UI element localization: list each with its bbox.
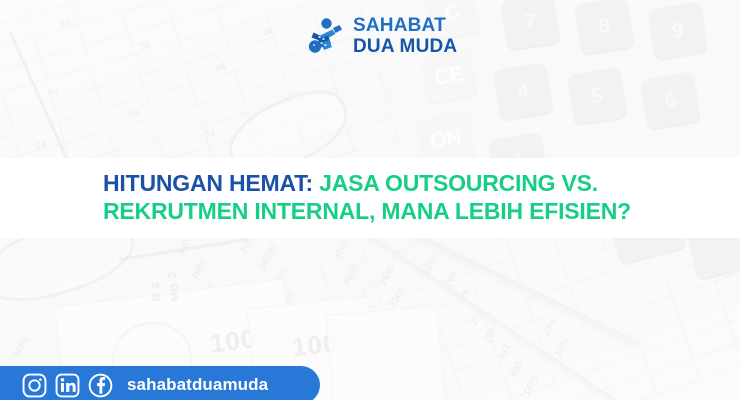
title-band: HITUNGAN HEMAT: JASA OUTSOURCING VS. REK… [0, 158, 740, 238]
sheet-number: 36300 [257, 243, 279, 272]
calculator: C CE ON MR 7 8 9 4 5 6 1 [413, 0, 740, 168]
banknote-serial: MB 3 [166, 270, 182, 302]
promo-banner: 65 56 88 92 64 51 24 36 C CE ON MR 7 8 9… [0, 0, 740, 400]
brand-wordmark: SAHABAT DUA MUDA [353, 16, 457, 56]
banknote [326, 305, 447, 400]
calculator-key-4: 4 [493, 62, 554, 122]
brand-logo: SAHABAT DUA MUDA [306, 12, 457, 60]
social-handle: sahabatduamuda [127, 375, 268, 395]
brand-name-line2: DUA MUDA [353, 37, 457, 56]
calculator-key-5: 5 [566, 67, 627, 127]
brand-name-line1: SAHABAT [353, 16, 457, 35]
instagram-icon[interactable] [22, 373, 47, 398]
calculator-key-7: 7 [500, 0, 561, 52]
facebook-icon[interactable] [88, 373, 113, 398]
calculator-key-6: 6 [640, 71, 701, 131]
title-highlight: HITUNGAN HEMAT: [103, 170, 313, 196]
sheet-number: 5686 [11, 335, 30, 359]
banknote-serial: B 2 [150, 281, 164, 302]
person-figure-icon [306, 16, 346, 56]
sheet-number: 1680 [189, 257, 208, 281]
social-bar: sahabatduamuda [0, 366, 320, 400]
calculator-key-8: 8 [574, 0, 635, 57]
page-title: HITUNGAN HEMAT: JASA OUTSOURCING VS. REK… [0, 170, 740, 225]
calculator-key-9: 9 [647, 1, 708, 61]
linkedin-icon[interactable] [55, 373, 80, 398]
